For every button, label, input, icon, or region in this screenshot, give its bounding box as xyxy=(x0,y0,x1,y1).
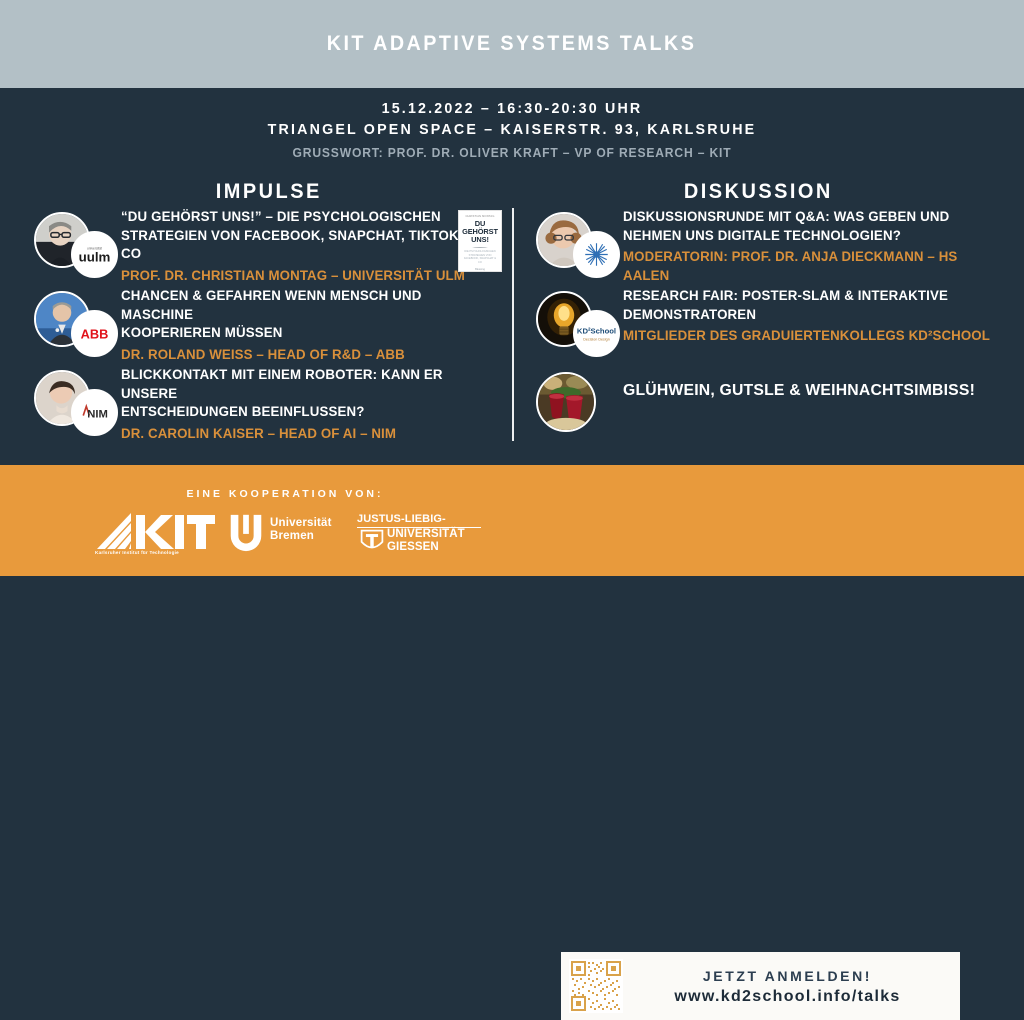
entry-title-line2: DEMONSTRATOREN xyxy=(623,306,995,325)
book-author: CHRISTIAN MONTAG xyxy=(465,215,494,218)
avatar-group: universität uulm xyxy=(30,212,116,280)
event-location: TRIANGEL OPEN SPACE – KAISERSTR. 93, KAR… xyxy=(26,119,999,140)
column-divider xyxy=(512,208,514,441)
entry-title-line1: GLÜHWEIN, GUTSLE & WEIHNACHTSIMBISS! xyxy=(623,382,995,401)
diskussion-column: DISKUSSIONSRUNDE MIT Q&A: WAS GEBEN UND … xyxy=(532,208,1002,445)
entry-speaker: MITGLIEDER DES GRADUIERTENKOLLEGS KD²SCH… xyxy=(623,324,995,345)
institution-logo: universität uulm xyxy=(71,231,118,278)
footer-bar: EINE KOOPERATION VON: xyxy=(0,465,1024,576)
avatar-group: KD²School Decision Design xyxy=(532,291,618,359)
entry-text: GLÜHWEIN, GUTSLE & WEIHNACHTSIMBISS! xyxy=(623,382,1001,401)
institution-logo: KD²School Decision Design xyxy=(573,310,620,357)
uulm-logo-icon: universität uulm xyxy=(73,233,116,276)
column-heading-diskussion: DISKUSSION xyxy=(684,180,833,204)
entry-title-line2: KOOPERIEREN MÜSSEN xyxy=(121,324,493,343)
entry-text: DISKUSSIONSRUNDE MIT Q&A: WAS GEBEN UND … xyxy=(623,208,1001,285)
avatar-group xyxy=(532,370,618,438)
avatar xyxy=(536,372,596,432)
book-cover: CHRISTIAN MONTAG DU GEHÖRST UNS! DIE PSY… xyxy=(458,210,502,272)
book-publisher: Blessing xyxy=(475,268,485,271)
avatar-group: ABB xyxy=(30,291,116,359)
partner-logos: Karlsruher Institut für Technologie Univ… xyxy=(85,509,485,567)
entry-speaker: DR. ROLAND WEISS – HEAD OF R&D – ABB xyxy=(121,343,493,364)
mulled-wine-photo-icon xyxy=(538,374,594,430)
list-item[interactable]: NIM BLICKKONTAKT MIT EINEM ROBOTER: KANN… xyxy=(30,366,500,445)
entry-text: CHANCEN & GEFAHREN WENN MENSCH UND MASCH… xyxy=(121,287,499,364)
list-item[interactable]: universität uulm “DU GEHÖRST UNS!” – DIE… xyxy=(30,208,500,287)
bremen-line1: Universität xyxy=(270,517,332,530)
qr-code-icon xyxy=(569,959,623,1013)
avatar-group xyxy=(532,212,618,280)
impulse-column: universität uulm “DU GEHÖRST UNS!” – DIE… xyxy=(30,208,500,445)
giessen-logo: JUSTUS-LIEBIG- UNIVERSITÄT GIESSEN xyxy=(357,513,492,557)
entry-title-line1: CHANCEN & GEFAHREN WENN MENSCH UND MASCH… xyxy=(121,287,493,324)
bremen-logo-text: Universität Bremen xyxy=(270,517,332,543)
giessen-line1: JUSTUS-LIEBIG- xyxy=(357,513,446,525)
entry-title-line2: STRATEGIEN VON FACEBOOK, SNAPCHAT, TIKTO… xyxy=(121,227,493,264)
registration-text: JETZT ANMELDEN! www.kd2school.info/talks xyxy=(623,966,960,1007)
entry-title-line1: “DU GEHÖRST UNS!” – DIE PSYCHOLOGISCHEN xyxy=(121,208,493,227)
universitaet-bremen-logo-icon xyxy=(225,511,267,553)
column-heading-impulse: IMPULSE xyxy=(216,180,322,204)
svg-text:KD²School: KD²School xyxy=(577,327,616,336)
entry-speaker: PROF. DR. CHRISTIAN MONTAG – UNIVERSITÄT… xyxy=(121,264,493,285)
event-greeting: GRUSSWORT: PROF. DR. OLIVER KRAFT – VP O… xyxy=(36,142,988,163)
cooperation-label: EINE KOOPERATION VON: xyxy=(100,488,470,500)
avatar-group: NIM xyxy=(30,370,116,438)
svg-text:ABB: ABB xyxy=(81,327,109,342)
entry-speaker: DR. CAROLIN KAISER – HEAD OF AI – NIM xyxy=(121,422,493,443)
entry-title-line1: RESEARCH FAIR: POSTER-SLAM & INTERAKTIVE xyxy=(623,287,995,306)
list-item[interactable]: KD²School Decision Design RESEARCH FAIR:… xyxy=(532,287,1002,366)
poster: KIT ADAPTIVE SYSTEMS TALKS 15.12.2022 – … xyxy=(0,0,1024,576)
institution-logo: ABB xyxy=(71,310,118,357)
header-bar: KIT ADAPTIVE SYSTEMS TALKS xyxy=(0,0,1024,88)
registration-box[interactable]: JETZT ANMELDEN! www.kd2school.info/talks xyxy=(561,952,960,1020)
kd2school-logo-icon: KD²School Decision Design xyxy=(575,312,618,355)
list-item[interactable]: GLÜHWEIN, GUTSLE & WEIHNACHTSIMBISS! xyxy=(532,366,1002,445)
giessen-line2: UNIVERSITÄT xyxy=(387,528,465,540)
kit-logo-icon xyxy=(95,511,217,553)
qr-code[interactable] xyxy=(569,959,623,1013)
giessen-line3: GIESSEN xyxy=(387,541,439,553)
list-item[interactable]: ABB CHANCEN & GEFAHREN WENN MENSCH UND M… xyxy=(30,287,500,366)
svg-text:Decision Design: Decision Design xyxy=(583,338,610,342)
entry-text: BLICKKONTAKT MIT EINEM ROBOTER: KANN ER … xyxy=(121,366,499,443)
nim-logo-icon: NIM xyxy=(73,391,116,434)
page-title: KIT ADAPTIVE SYSTEMS TALKS xyxy=(327,32,697,56)
book-title: DU GEHÖRST UNS! xyxy=(459,220,501,244)
abb-logo-icon: ABB xyxy=(73,312,116,355)
bremen-line2: Bremen xyxy=(270,530,332,543)
entry-title-line2: ENTSCHEIDUNGEN BEEINFLUSSEN? xyxy=(121,403,493,422)
institution-logo: NIM xyxy=(71,389,118,436)
entry-title-line1: DISKUSSIONSRUNDE MIT Q&A: WAS GEBEN UND xyxy=(623,208,995,227)
registration-headline: JETZT ANMELDEN! xyxy=(623,966,952,986)
entry-title-line2: NEHMEN UNS DIGITALE TECHNOLOGIEN? xyxy=(623,227,995,246)
entry-title-line1: BLICKKONTAKT MIT EINEM ROBOTER: KANN ER … xyxy=(121,366,493,403)
event-date: 15.12.2022 – 16:30-20:30 UHR xyxy=(26,98,999,119)
entry-text: RESEARCH FAIR: POSTER-SLAM & INTERAKTIVE… xyxy=(623,287,1001,345)
registration-url[interactable]: www.kd2school.info/talks xyxy=(623,986,952,1007)
entry-speaker: MODERATORIN: PROF. DR. ANJA DIECKMANN – … xyxy=(623,245,995,285)
list-item[interactable]: DISKUSSIONSRUNDE MIT Q&A: WAS GEBEN UND … xyxy=(532,208,1002,287)
hs-aalen-logo-icon xyxy=(575,233,618,276)
svg-text:NIM: NIM xyxy=(87,409,108,421)
giessen-crest-icon xyxy=(359,528,385,554)
institution-logo xyxy=(573,231,620,278)
svg-text:uulm: uulm xyxy=(79,250,111,265)
kit-logo-caption: Karlsruher Institut für Technologie xyxy=(95,550,217,555)
book-blurb: DIE PSYCHOLOGISCHEN STRATEGIEN VON FACEB… xyxy=(463,250,497,264)
event-info: 15.12.2022 – 16:30-20:30 UHR TRIANGEL OP… xyxy=(0,98,1024,163)
entry-text: “DU GEHÖRST UNS!” – DIE PSYCHOLOGISCHEN … xyxy=(121,208,499,285)
